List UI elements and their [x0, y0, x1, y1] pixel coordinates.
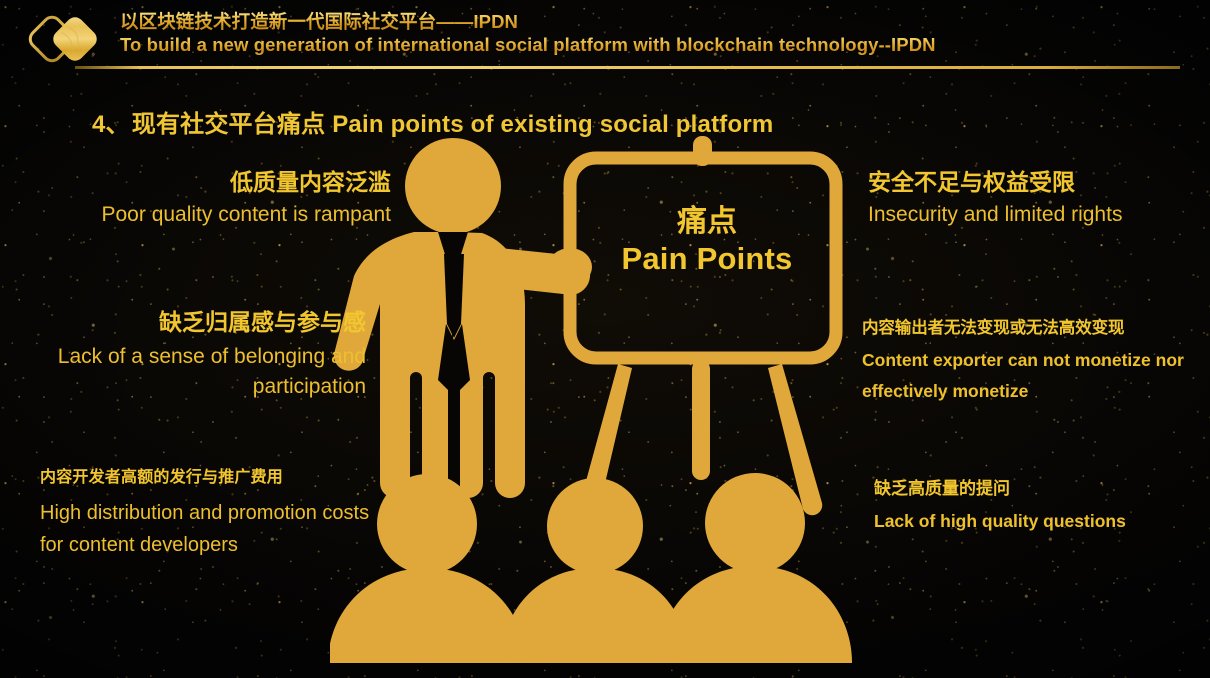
pain-point-bottom-right-en: Lack of high quality questions — [874, 506, 1194, 536]
pain-point-top-right-cn: 安全不足与权益受限 — [868, 168, 1198, 198]
pain-points-illustration — [330, 128, 870, 678]
pain-point-middle-right-en: Content exporter can not monetize nor ef… — [862, 345, 1206, 405]
pain-point-bottom-left-en: High distribution and promotion costs fo… — [40, 497, 380, 562]
page-title-number: 4、 — [92, 111, 130, 138]
slide-root: 以区块链技术打造新一代国际社交平台——IPDN To build a new g… — [0, 0, 1210, 678]
pain-point-bottom-left: 内容开发者高额的发行与推广费用 High distribution and pr… — [40, 468, 380, 562]
pain-point-bottom-left-cn: 内容开发者高额的发行与推广费用 — [40, 468, 380, 489]
pain-point-bottom-right: 缺乏高质量的提问 Lack of high quality questions — [874, 478, 1194, 536]
pain-point-middle-left-en: Lack of a sense of belonging and partici… — [8, 342, 366, 402]
slide-header: 以区块链技术打造新一代国际社交平台——IPDN To build a new g… — [0, 0, 1210, 70]
pain-point-middle-left: 缺乏归属感与参与感 Lack of a sense of belonging a… — [8, 308, 366, 402]
pain-point-top-right-en: Insecurity and limited rights — [868, 200, 1198, 230]
header-title-en: To build a new generation of internation… — [120, 33, 936, 56]
pain-point-top-left: 低质量内容泛滥 Poor quality content is rampant — [8, 168, 391, 230]
easel-whiteboard-icon — [548, 136, 836, 515]
audience-people-icon — [330, 473, 852, 663]
pain-point-middle-right-cn: 内容输出者无法变现或无法高效变现 — [862, 318, 1206, 339]
header-title-group: 以区块链技术打造新一代国际社交平台——IPDN To build a new g… — [120, 10, 936, 57]
pain-point-top-left-cn: 低质量内容泛滥 — [8, 168, 391, 198]
pain-point-bottom-right-cn: 缺乏高质量的提问 — [874, 478, 1194, 500]
pain-point-middle-right: 内容输出者无法变现或无法高效变现 Content exporter can no… — [862, 318, 1206, 406]
pain-point-middle-left-cn: 缺乏归属感与参与感 — [8, 308, 366, 338]
pain-point-top-right: 安全不足与权益受限 Insecurity and limited rights — [868, 168, 1198, 230]
pain-point-top-left-en: Poor quality content is rampant — [8, 200, 391, 230]
ipdn-diamond-logo-icon — [22, 8, 118, 70]
header-title-cn: 以区块链技术打造新一代国际社交平台——IPDN — [120, 10, 936, 33]
header-divider-rule — [75, 66, 1180, 69]
